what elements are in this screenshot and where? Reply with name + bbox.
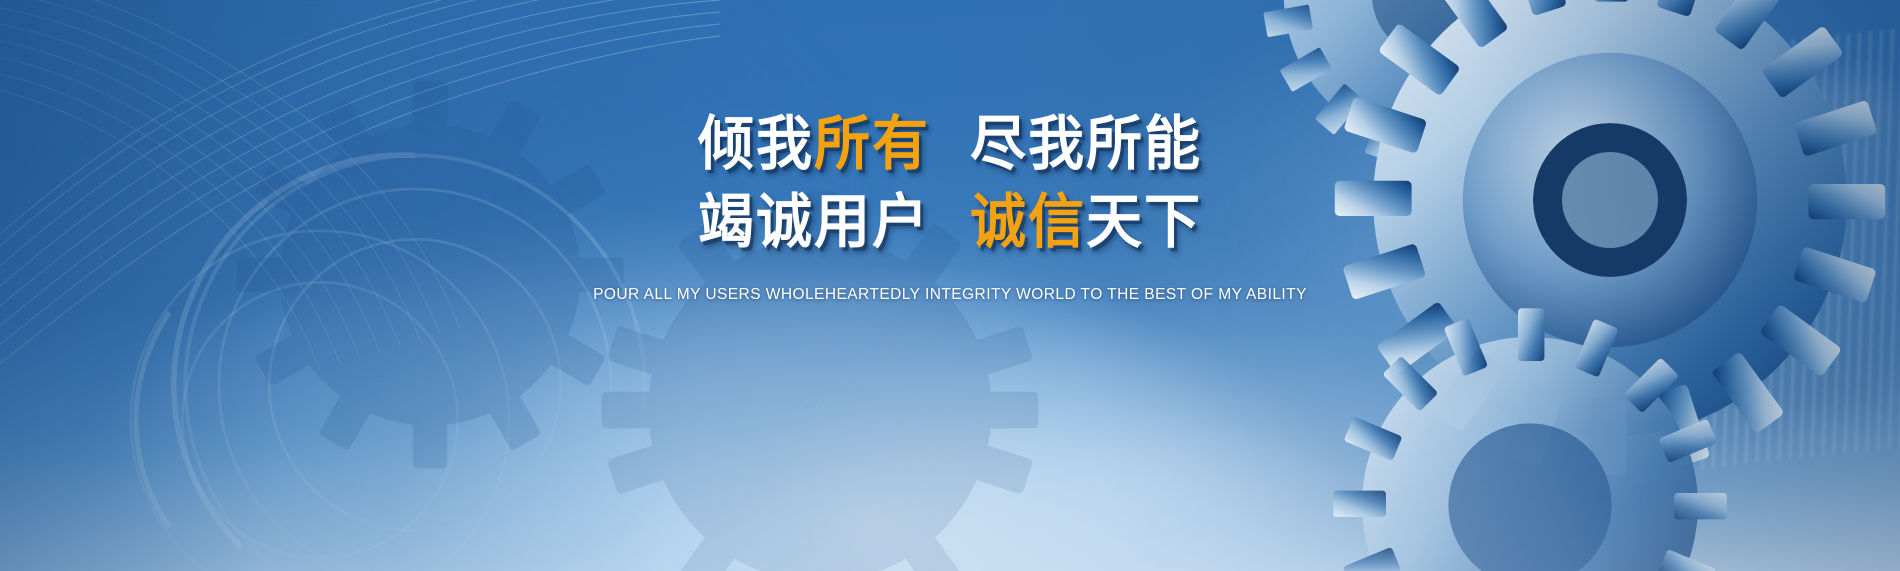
- headline-line-2: 竭诚用户诚信天下: [0, 190, 1900, 256]
- headline-line-1: 倾我所有尽我所能: [0, 112, 1900, 178]
- headline-line2-segment-3: 天下: [1086, 188, 1202, 258]
- headline-line1-segment-3: 尽我所能: [970, 110, 1202, 180]
- headline-line2-segment-1: 竭诚用户: [698, 188, 930, 258]
- banner-copy: 倾我所有尽我所能 竭诚用户诚信天下 POUR ALL MY USERS WHOL…: [0, 112, 1900, 304]
- hero-banner: 倾我所有尽我所能 竭诚用户诚信天下 POUR ALL MY USERS WHOL…: [0, 0, 1900, 571]
- headline-line1-segment-2: 所有: [814, 110, 930, 180]
- headline-line2-segment-2: 诚信: [970, 188, 1086, 258]
- banner-subtitle: POUR ALL MY USERS WHOLEHEARTEDLY INTEGRI…: [0, 286, 1900, 304]
- headline-line1-segment-1: 倾我: [698, 110, 814, 180]
